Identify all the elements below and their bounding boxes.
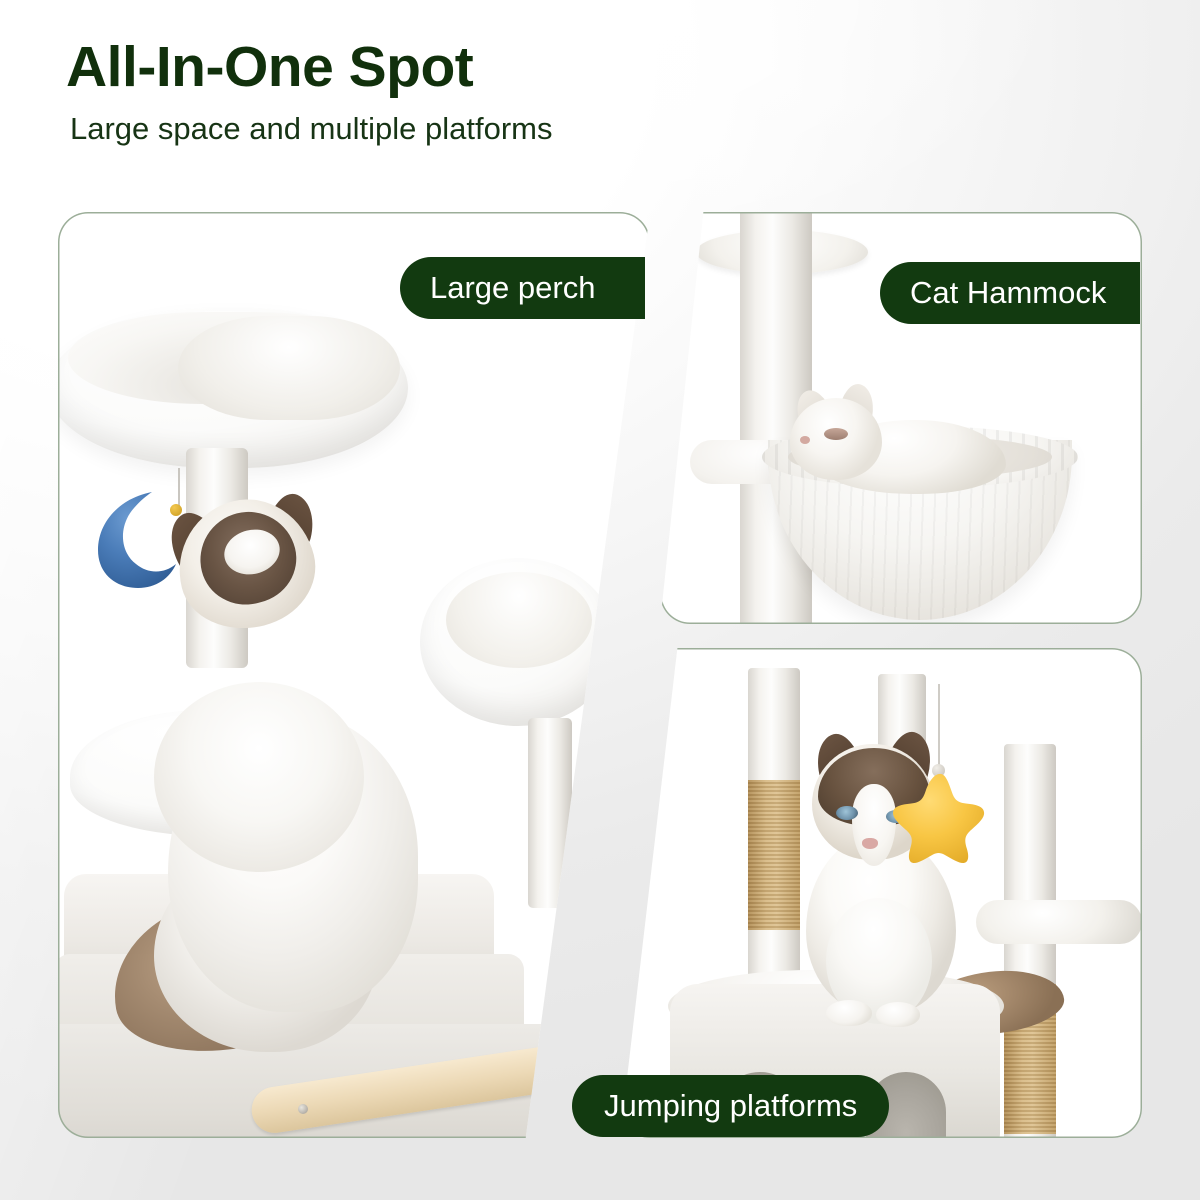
toy-string: [938, 684, 940, 768]
badge-large-perch-label: Large perch: [430, 270, 595, 306]
badge-jumping-platforms-label: Jumping platforms: [604, 1088, 857, 1124]
badge-cat-hammock-label: Cat Hammock: [910, 275, 1106, 311]
ramp-screw: [298, 1104, 308, 1114]
page-subtitle: Large space and multiple platforms: [70, 112, 966, 146]
moon-toy-icon: [94, 488, 180, 592]
sisal-wrap-left: [748, 780, 800, 930]
secondary-bed-hollow: [446, 572, 592, 668]
kitten-nose: [800, 436, 810, 444]
page-title: All-In-One Spot: [66, 38, 966, 98]
cat-eye-left: [836, 806, 858, 820]
jumping-platforms-photo: [620, 648, 1142, 1138]
side-shelf-platform: [976, 900, 1142, 944]
badge-large-perch: Large perch: [400, 257, 645, 319]
badge-cat-hammock: Cat Hammock: [880, 262, 1140, 324]
header: All-In-One Spot Large space and multiple…: [66, 38, 966, 146]
kitten-eye: [824, 428, 848, 440]
star-toy-icon: [892, 770, 988, 864]
cat-neck-ruff: [154, 682, 364, 872]
cat-paw-left: [826, 1000, 872, 1026]
cat-nose: [862, 838, 878, 849]
badge-jumping-platforms: Jumping platforms: [572, 1075, 889, 1137]
cat-paw-right: [876, 1002, 920, 1027]
top-perch-rim: [178, 316, 400, 420]
jumping-platforms-panel: [620, 648, 1142, 1138]
